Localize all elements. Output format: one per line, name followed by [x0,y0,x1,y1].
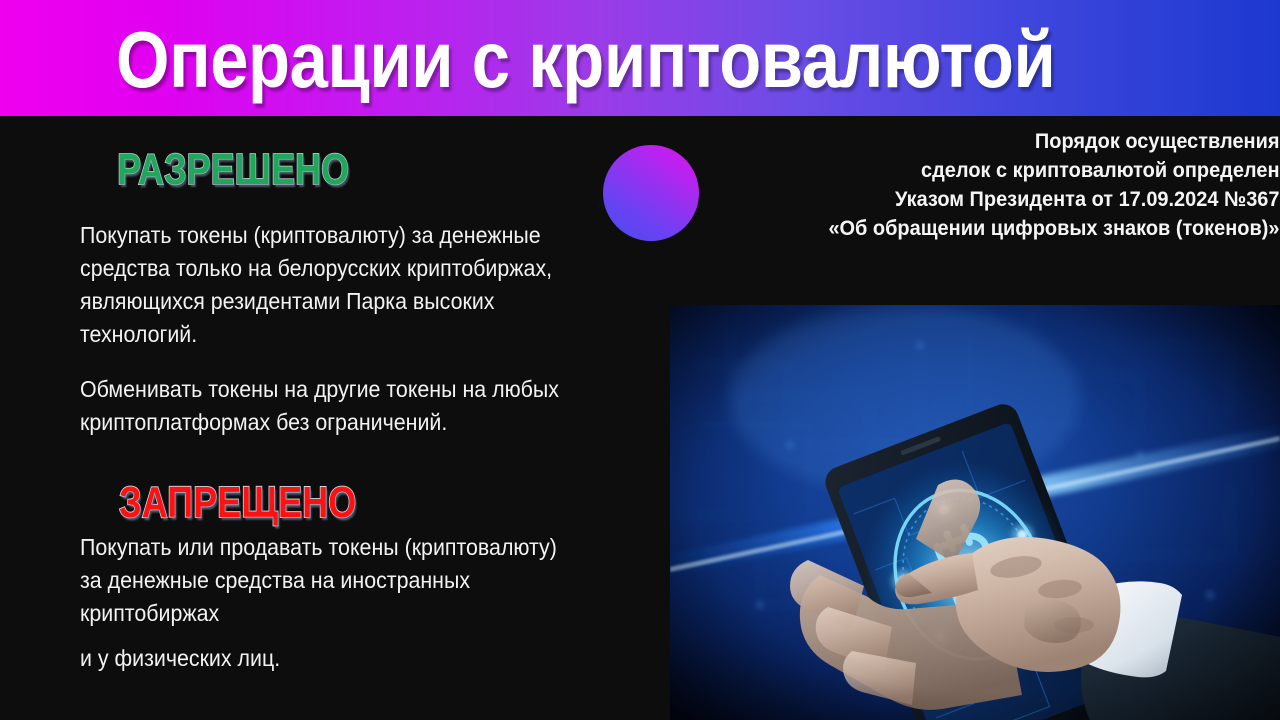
legal-note-line-3: Указом Президента от 17.09.2024 №367 [700,185,1280,214]
slide-root: Операции с криптовалютой РАЗРЕШЕНО Покуп… [0,0,1280,720]
forbidden-paragraph-2: и у физических лиц. [80,642,564,675]
allowed-paragraph-2: Обменивать токены на другие токены на лю… [80,373,564,439]
legal-note: Порядок осуществления сделок с криптовал… [700,127,1280,243]
crypto-smartphone-illustration [670,305,1280,720]
forbidden-heading: ЗАПРЕЩЕНО [119,481,356,525]
allowed-paragraph-1: Покупать токены (криптовалюту) за денежн… [80,219,564,351]
page-title: Операции с криптовалютой [116,12,1055,108]
legal-note-line-4: «Об обращении цифровых знаков (токенов)» [700,214,1280,243]
forbidden-paragraph-1: Покупать или продавать токены (криптовал… [80,531,564,630]
crypto-smartphone-photo [670,305,1280,720]
legal-note-line-1: Порядок осуществления [700,127,1280,156]
gradient-circle-decoration [603,145,699,241]
legal-note-line-2: сделок с криптовалютой определен [700,156,1280,185]
title-banner: Операции с криптовалютой [0,0,1280,116]
allowed-heading: РАЗРЕШЕНО [117,148,349,192]
